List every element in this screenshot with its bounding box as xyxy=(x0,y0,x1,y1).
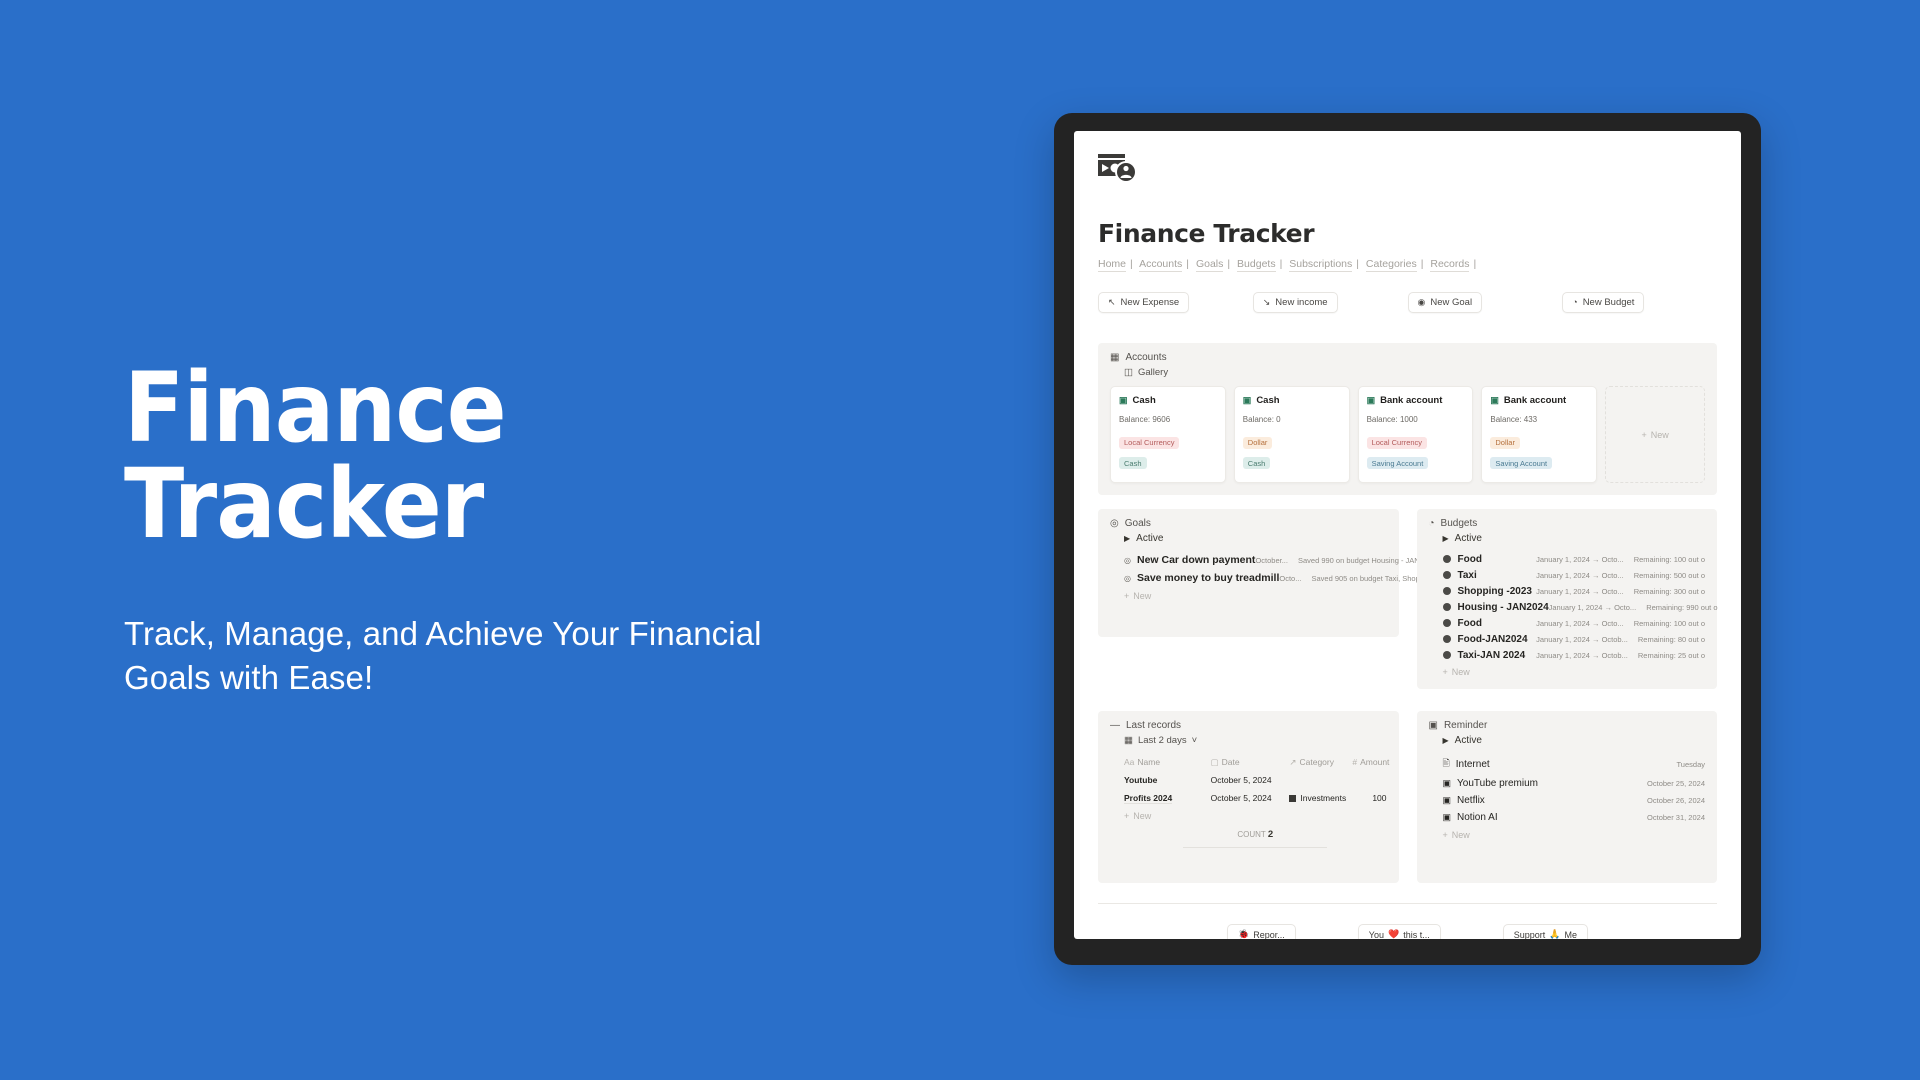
budget-range: January 1, 2024 → Octo... xyxy=(1536,619,1624,628)
reminder-date: Tuesday xyxy=(1677,760,1706,769)
budgets-title: Budgets xyxy=(1441,518,1478,529)
account-card-title: ▣ Cash xyxy=(1119,395,1217,406)
add-reminder-label: New xyxy=(1452,830,1470,840)
record-category: Investments xyxy=(1289,793,1352,803)
nav-link-categories[interactable]: Categories xyxy=(1366,258,1417,272)
triangle-right-icon: ▶ xyxy=(1443,534,1449,543)
banknote-icon: ▣ xyxy=(1367,395,1376,406)
budget-name: Housing - JAN2024 xyxy=(1458,602,1549,613)
reminder-date: October 25, 2024 xyxy=(1647,779,1705,788)
plus-icon: + xyxy=(1443,830,1448,840)
budget-remaining: Remaining: 25 out o xyxy=(1638,651,1705,660)
budget-name: Taxi xyxy=(1458,570,1477,581)
add-account-card[interactable]: + New xyxy=(1605,386,1705,483)
gallery-icon: ◫ xyxy=(1124,367,1133,378)
last-records-title: Last records xyxy=(1126,720,1181,731)
budget-item[interactable]: Taxi-JAN 2024 January 1, 2024 → Octob...… xyxy=(1443,647,1706,663)
arrow-down-right-icon: ↘ xyxy=(1263,298,1271,307)
plus-icon: + xyxy=(1641,430,1646,440)
budget-item[interactable]: Food-JAN2024 January 1, 2024 → Octob... … xyxy=(1443,631,1706,647)
budget-name: Food xyxy=(1458,618,1482,629)
account-tag-type: Cash xyxy=(1243,457,1271,469)
budget-remaining: Remaining: 80 out o xyxy=(1638,635,1705,644)
record-count-value: 2 xyxy=(1268,829,1273,840)
grid-icon: ▦ xyxy=(1110,352,1119,363)
footer-divider xyxy=(1098,903,1717,904)
account-card[interactable]: ▣ Cash Balance: 9606 Local Currency Cash xyxy=(1110,386,1226,483)
bullet-icon xyxy=(1443,587,1451,595)
breadcrumb-nav: Home| Accounts| Goals| Budgets| Subscrip… xyxy=(1098,258,1717,270)
accounts-title: Accounts xyxy=(1125,352,1166,363)
target-icon: ◎ xyxy=(1124,556,1131,565)
bullet-icon xyxy=(1443,571,1451,579)
account-card-title: ▣ Bank account xyxy=(1367,395,1465,406)
last-records-block: — Last records ▦ Last 2 days ˅ AaName ▢D… xyxy=(1098,711,1399,883)
pie-chart-icon: ◔ xyxy=(1429,518,1435,529)
last-records-view-selector[interactable]: ▦ Last 2 days ˅ xyxy=(1124,735,1387,746)
add-goal-button[interactable]: + New xyxy=(1124,591,1387,601)
goal-date: Octo... xyxy=(1279,574,1301,583)
calendar-alert-icon: ▣ xyxy=(1443,812,1452,823)
goals-header: ◎ Goals xyxy=(1110,518,1387,529)
budget-range: January 1, 2024 → Octo... xyxy=(1536,571,1624,580)
account-card[interactable]: ▣ Bank account Balance: 1000 Local Curre… xyxy=(1358,386,1474,483)
budget-remaining: Remaining: 300 out o xyxy=(1634,587,1705,596)
reminder-title: Reminder xyxy=(1444,720,1487,731)
nav-link-goals[interactable]: Goals xyxy=(1196,258,1223,272)
count-divider xyxy=(1183,847,1327,848)
new-expense-button[interactable]: ↖ New Expense xyxy=(1098,292,1189,313)
nav-link-subscriptions[interactable]: Subscriptions xyxy=(1289,258,1352,272)
reminder-group-toggle[interactable]: ▶ Active xyxy=(1443,735,1706,746)
record-count-label: COUNT xyxy=(1237,830,1265,839)
calendar-icon: ▢ xyxy=(1211,757,1219,767)
column-header-category-label: Category xyxy=(1300,757,1335,767)
budget-item[interactable]: Food January 1, 2024 → Octo... Remaining… xyxy=(1443,551,1706,567)
bullet-icon xyxy=(1443,619,1451,627)
like-template-button[interactable]: You ❤️ this t... xyxy=(1358,924,1441,939)
quick-actions-toolbar: ↖ New Expense ↘ New income ◉ New Goal ◔ … xyxy=(1098,292,1717,313)
add-reminder-button[interactable]: + New xyxy=(1443,830,1706,840)
nav-sep: | xyxy=(1223,258,1234,270)
app-screen: Finance Tracker Home| Accounts| Goals| B… xyxy=(1074,131,1741,939)
goal-item[interactable]: ◎ New Car down payment October... Saved … xyxy=(1124,551,1387,569)
support-me-button[interactable]: Support 🙏 Me xyxy=(1503,924,1588,939)
goals-budgets-row: ◎ Goals ▶ Active ◎ New Car down payment … xyxy=(1098,509,1717,689)
account-name: Bank account xyxy=(1504,395,1566,406)
last-records-table: AaName ▢Date ↗Category #Amount Youtube O… xyxy=(1124,754,1387,848)
accounts-block: ▦ Accounts ◫ Gallery ▣ Cash Balance: 960… xyxy=(1098,343,1717,495)
account-balance: Balance: 1000 xyxy=(1367,415,1465,424)
accounts-view-selector[interactable]: ◫ Gallery xyxy=(1124,367,1705,378)
reminder-group-label: Active xyxy=(1455,735,1482,746)
add-goal-label: New xyxy=(1133,591,1151,601)
budgets-column: ◔ Budgets ▶ Active Food January 1, 2024 … xyxy=(1417,509,1718,689)
budget-item[interactable]: Shopping -2023 January 1, 2024 → Octo...… xyxy=(1443,583,1706,599)
account-tag-currency: Dollar xyxy=(1243,437,1273,449)
reminder-block: ▣ Reminder ▶ Active 🖹 Internet Tuesday ▣… xyxy=(1417,711,1718,883)
reminder-name: Notion AI xyxy=(1457,812,1498,823)
budget-item[interactable]: Housing - JAN2024 January 1, 2024 → Octo… xyxy=(1443,599,1706,615)
plus-icon: + xyxy=(1124,591,1129,601)
column-header-amount-label: Amount xyxy=(1360,757,1389,767)
goals-title: Goals xyxy=(1125,518,1151,529)
triangle-right-icon: ▶ xyxy=(1124,534,1130,543)
goals-block: ◎ Goals ▶ Active ◎ New Car down payment … xyxy=(1098,509,1399,637)
toolbar-slot: ↘ New income xyxy=(1253,292,1408,313)
app-logo xyxy=(1098,153,1717,185)
account-tag-currency: Local Currency xyxy=(1367,437,1427,449)
new-expense-label: New Expense xyxy=(1121,297,1180,308)
new-income-button[interactable]: ↘ New income xyxy=(1253,292,1338,313)
new-income-label: New income xyxy=(1275,297,1327,308)
chevron-down-icon: ˅ xyxy=(1192,735,1198,746)
toolbar-slot: ↖ New Expense xyxy=(1098,292,1253,313)
new-budget-label: New Budget xyxy=(1583,297,1635,308)
record-count: COUNT 2 xyxy=(1124,829,1387,840)
column-header-date[interactable]: ▢Date xyxy=(1211,757,1290,768)
record-amount xyxy=(1352,775,1386,785)
reminder-name: Internet xyxy=(1456,759,1490,770)
support-me-label-pre: Support xyxy=(1514,930,1546,940)
budget-remaining: Remaining: 100 out o xyxy=(1634,555,1705,564)
record-category-text: Investments xyxy=(1300,793,1346,803)
record-date: October 5, 2024 xyxy=(1211,793,1290,803)
account-name: Cash xyxy=(1133,395,1156,406)
text-icon: Aa xyxy=(1124,757,1134,767)
bug-icon: 🐞 xyxy=(1238,929,1249,939)
plus-icon: + xyxy=(1124,811,1129,821)
goals-group-label: Active xyxy=(1136,533,1163,544)
accounts-header: ▦ Accounts xyxy=(1110,352,1705,363)
banknote-icon: ▣ xyxy=(1490,395,1499,406)
add-budget-button[interactable]: + New xyxy=(1443,667,1706,677)
heart-icon: ❤️ xyxy=(1388,929,1399,939)
toolbar-slot: ◉ New Goal xyxy=(1408,292,1563,313)
account-tag-currency: Local Currency xyxy=(1119,437,1179,449)
bullet-icon xyxy=(1443,603,1451,611)
table-row[interactable]: Youtube October 5, 2024 xyxy=(1124,771,1387,789)
goal-item[interactable]: ◎ Save money to buy treadmill Octo... Sa… xyxy=(1124,569,1387,587)
new-budget-button[interactable]: ◔ New Budget xyxy=(1562,292,1644,313)
reminder-date: October 26, 2024 xyxy=(1647,796,1705,805)
hero-subtitle: Track, Manage, and Achieve Your Financia… xyxy=(124,612,844,699)
record-amount: 100 xyxy=(1352,793,1386,803)
bullet-icon xyxy=(1443,635,1451,643)
calendar-alert-icon: ▣ xyxy=(1429,720,1438,731)
target-icon: ◎ xyxy=(1124,574,1131,583)
support-me-label-post: Me xyxy=(1564,930,1577,940)
last-records-column: — Last records ▦ Last 2 days ˅ AaName ▢D… xyxy=(1098,711,1399,883)
budget-remaining: Remaining: 990 out o xyxy=(1646,603,1717,612)
nav-sep: | xyxy=(1417,258,1428,270)
reminder-item[interactable]: ▣ Notion AI October 31, 2024 xyxy=(1443,809,1706,826)
account-card-title: ▣ Bank account xyxy=(1490,395,1588,406)
budgets-group-label: Active xyxy=(1455,533,1482,544)
calendar-alert-icon: ▣ xyxy=(1443,795,1452,806)
nav-link-accounts[interactable]: Accounts xyxy=(1139,258,1182,272)
hero-title: Finance Tracker xyxy=(124,360,851,552)
category-color-swatch xyxy=(1289,795,1296,802)
column-header-category[interactable]: ↗Category xyxy=(1289,757,1352,768)
goal-name: New Car down payment xyxy=(1137,554,1255,566)
budget-name: Food-JAN2024 xyxy=(1458,634,1528,645)
record-date: October 5, 2024 xyxy=(1211,775,1290,785)
relation-icon: ↗ xyxy=(1289,757,1296,767)
pie-chart-icon: ◔ xyxy=(1572,298,1577,307)
like-template-label-pre: You xyxy=(1369,930,1384,940)
budget-item[interactable]: Taxi January 1, 2024 → Octo... Remaining… xyxy=(1443,567,1706,583)
reminder-date: October 31, 2024 xyxy=(1647,813,1705,822)
nav-link-budgets[interactable]: Budgets xyxy=(1237,258,1276,272)
goal-name: Save money to buy treadmill xyxy=(1137,572,1279,584)
table-header-row: AaName ▢Date ↗Category #Amount xyxy=(1124,754,1387,771)
column-header-name-label: Name xyxy=(1137,757,1160,767)
number-icon: # xyxy=(1352,757,1357,767)
budgets-header: ◔ Budgets xyxy=(1429,518,1706,529)
budgets-group-toggle[interactable]: ▶ Active xyxy=(1443,533,1706,544)
target-icon: ◉ xyxy=(1418,298,1426,307)
budget-name: Food xyxy=(1458,554,1482,565)
budget-range: January 1, 2024 → Octob... xyxy=(1536,635,1628,644)
budget-range: January 1, 2024 → Octo... xyxy=(1536,555,1624,564)
last-records-header: — Last records xyxy=(1110,720,1387,731)
reminder-item[interactable]: 🖹 Internet Tuesday xyxy=(1443,753,1706,775)
target-icon: ◎ xyxy=(1110,518,1119,529)
goals-group-toggle[interactable]: ▶ Active xyxy=(1124,533,1387,544)
triangle-right-icon: ▶ xyxy=(1443,736,1449,745)
add-budget-label: New xyxy=(1452,667,1470,677)
account-tag-type: Cash xyxy=(1119,457,1147,469)
page-title: Finance Tracker xyxy=(1098,219,1717,248)
reminder-header: ▣ Reminder xyxy=(1429,720,1706,731)
new-goal-button[interactable]: ◉ New Goal xyxy=(1408,292,1483,313)
account-name: Cash xyxy=(1256,395,1279,406)
table-row[interactable]: Profits 2024 October 5, 2024 Investments… xyxy=(1124,789,1387,807)
reminder-item[interactable]: ▣ YouTube premium October 25, 2024 xyxy=(1443,775,1706,792)
records-reminder-row: — Last records ▦ Last 2 days ˅ AaName ▢D… xyxy=(1098,711,1717,883)
add-record-label: New xyxy=(1133,811,1151,821)
account-tag-type: Saving Account xyxy=(1367,457,1429,469)
nav-sep: | xyxy=(1182,258,1193,270)
add-account-label: New xyxy=(1651,430,1669,440)
account-tag-type: Saving Account xyxy=(1490,457,1552,469)
budget-range: January 1, 2024 → Octob... xyxy=(1536,651,1628,660)
bullet-icon xyxy=(1443,555,1451,563)
reminder-item[interactable]: ▣ Netflix October 26, 2024 xyxy=(1443,792,1706,809)
reminder-column: ▣ Reminder ▶ Active 🖹 Internet Tuesday ▣… xyxy=(1417,711,1718,883)
toolbar-slot: ◔ New Budget xyxy=(1562,292,1717,313)
bullet-icon xyxy=(1443,651,1451,659)
new-goal-label: New Goal xyxy=(1430,297,1472,308)
banknote-icon: ▣ xyxy=(1243,395,1252,406)
reminder-name: Netflix xyxy=(1457,795,1485,806)
nav-sep: | xyxy=(1352,258,1363,270)
pray-icon: 🙏 xyxy=(1549,929,1560,939)
nav-link-home[interactable]: Home xyxy=(1098,258,1126,272)
budgets-block: ◔ Budgets ▶ Active Food January 1, 2024 … xyxy=(1417,509,1718,689)
account-balance: Balance: 433 xyxy=(1490,415,1588,424)
record-name: Youtube xyxy=(1124,775,1211,785)
budget-remaining: Remaining: 100 out o xyxy=(1634,619,1705,628)
goal-date: October... xyxy=(1255,556,1288,565)
report-bug-button[interactable]: 🐞 Repor... xyxy=(1227,924,1296,939)
add-record-button[interactable]: + New xyxy=(1124,811,1387,821)
reminder-name: YouTube premium xyxy=(1457,778,1538,789)
budget-item[interactable]: Food January 1, 2024 → Octo... Remaining… xyxy=(1443,615,1706,631)
nav-sep: | xyxy=(1469,258,1480,270)
accounts-view-label: Gallery xyxy=(1138,367,1168,378)
budget-range: January 1, 2024 → Octo... xyxy=(1549,603,1637,612)
nav-sep: | xyxy=(1276,258,1287,270)
column-header-name[interactable]: AaName xyxy=(1124,757,1211,768)
footer-buttons: 🐞 Repor... You ❤️ this t... Support 🙏 Me xyxy=(1098,924,1717,939)
account-balance: Balance: 0 xyxy=(1243,415,1341,424)
account-card[interactable]: ▣ Bank account Balance: 433 Dollar Savin… xyxy=(1481,386,1597,483)
nav-link-records[interactable]: Records xyxy=(1430,258,1469,272)
account-card-title: ▣ Cash xyxy=(1243,395,1341,406)
plus-icon: + xyxy=(1443,667,1448,677)
account-balance: Balance: 9606 xyxy=(1119,415,1217,424)
page-icon: 🖹 xyxy=(1443,756,1450,772)
calendar-alert-icon: ▣ xyxy=(1443,778,1452,789)
banknote-icon: ▣ xyxy=(1119,395,1128,406)
budget-range: January 1, 2024 → Octo... xyxy=(1536,587,1624,596)
account-tag-currency: Dollar xyxy=(1490,437,1520,449)
nav-sep: | xyxy=(1126,258,1137,270)
hero-section: Finance Tracker Track, Manage, and Achie… xyxy=(124,360,914,699)
arrow-up-left-icon: ↖ xyxy=(1108,298,1116,307)
minus-icon: — xyxy=(1110,720,1120,731)
table-icon: ▦ xyxy=(1124,735,1133,746)
budget-name: Taxi-JAN 2024 xyxy=(1458,650,1526,661)
record-name-text: Profits 2024 xyxy=(1124,793,1172,804)
report-bug-label: Repor... xyxy=(1253,930,1285,940)
like-template-label-post: this t... xyxy=(1403,930,1430,940)
tablet-device-frame: Finance Tracker Home| Accounts| Goals| B… xyxy=(1054,113,1761,965)
accounts-gallery: ▣ Cash Balance: 9606 Local Currency Cash… xyxy=(1110,386,1705,483)
column-header-amount[interactable]: #Amount xyxy=(1352,757,1386,768)
last-records-view-label: Last 2 days xyxy=(1138,735,1187,746)
account-card[interactable]: ▣ Cash Balance: 0 Dollar Cash xyxy=(1234,386,1350,483)
record-name: Profits 2024 xyxy=(1124,793,1211,803)
money-with-person-icon xyxy=(1098,153,1140,185)
column-header-date-label: Date xyxy=(1222,757,1240,767)
account-name: Bank account xyxy=(1380,395,1442,406)
goal-detail: Saved 990 on budget Housing - JAN xyxy=(1298,556,1420,565)
record-category xyxy=(1289,775,1352,785)
goals-column: ◎ Goals ▶ Active ◎ New Car down payment … xyxy=(1098,509,1399,689)
budget-name: Shopping -2023 xyxy=(1458,586,1532,597)
budget-remaining: Remaining: 500 out o xyxy=(1634,571,1705,580)
